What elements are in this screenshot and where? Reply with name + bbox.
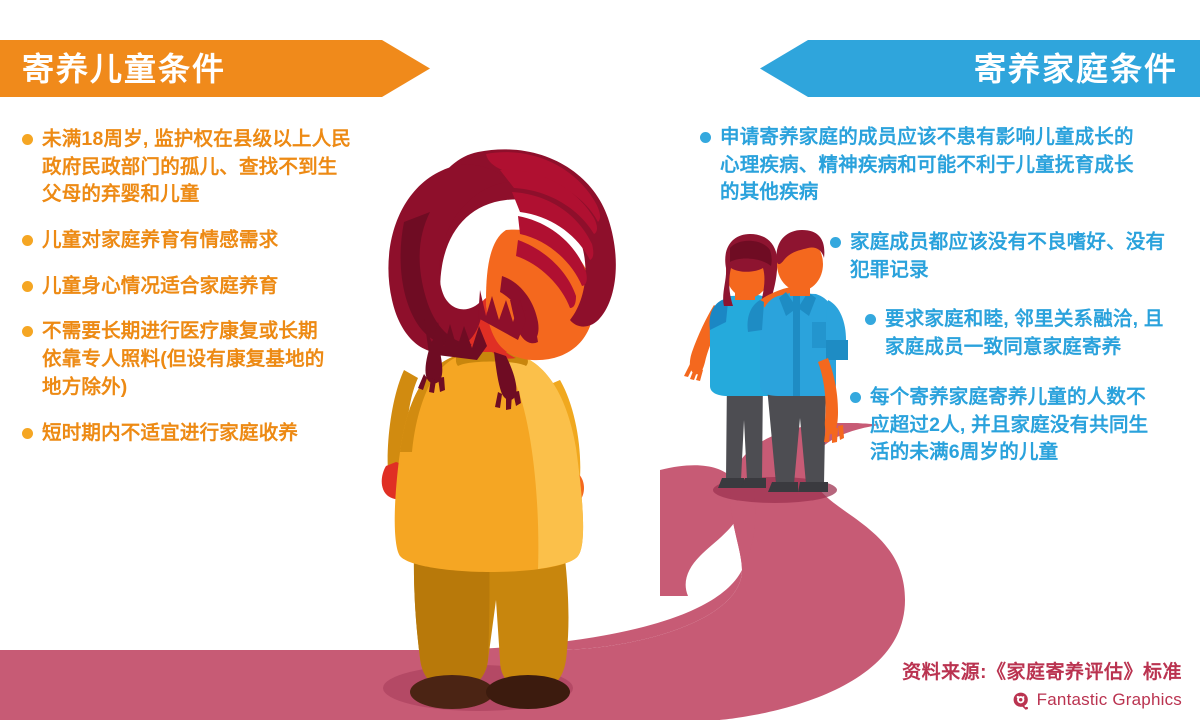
brand-name: Fantastic Graphics [1037,690,1182,710]
dot-bullet-icon [850,392,861,403]
foster-child-conditions-list: 未满18周岁, 监护权在县级以上人民 政府民政部门的孤儿、查找不到生 父母的弃婴… [22,126,422,465]
right-header-title: 寄养家庭条件 [974,53,1178,85]
footer: 资料来源:《家庭寄养评估》标准 Fantastic Graphics [902,657,1182,710]
infographic-canvas: 寄养儿童条件 寄养家庭条件 未满18周岁, 监护权在县级以上人民 政府民政部门的… [0,0,1200,720]
dot-bullet-icon [22,235,33,246]
list-item: 申请寄养家庭的成员应该不患有影响儿童成长的 心理疾病、精神疾病和可能不利于儿童抚… [700,124,1200,207]
list-item-text: 要求家庭和睦, 邻里关系融洽, 且 家庭成员一致同意家庭寄养 [885,306,1164,361]
list-item: 儿童对家庭养育有情感需求 [22,227,422,255]
list-item: 家庭成员都应该没有不良嗜好、没有 犯罪记录 [830,229,1200,284]
dot-bullet-icon [22,326,33,337]
dot-bullet-icon [22,134,33,145]
list-item-text: 每个寄养家庭寄养儿童的人数不 应超过2人, 并且家庭没有共同生 活的未满6周岁的… [870,384,1148,467]
brand-line: Fantastic Graphics [902,690,1182,710]
list-item-text: 儿童身心情况适合家庭养育 [42,273,278,301]
left-header-title: 寄养儿童条件 [22,53,226,85]
list-item: 不需要长期进行医疗康复或长期 依靠专人照料(但设有康复基地的 地方除外) [22,318,422,401]
list-item-text: 未满18周岁, 监护权在县级以上人民 政府民政部门的孤儿、查找不到生 父母的弃婴… [42,126,351,209]
right-header-banner: 寄养家庭条件 [760,40,1200,97]
left-header-banner: 寄养儿童条件 [0,40,430,97]
fantastic-graphics-logo-icon [1012,691,1031,710]
list-item-text: 儿童对家庭养育有情感需求 [42,227,278,255]
dot-bullet-icon [700,132,711,143]
list-item-text: 不需要长期进行医疗康复或长期 依靠专人照料(但设有康复基地的 地方除外) [42,318,325,401]
dot-bullet-icon [865,314,876,325]
dot-bullet-icon [830,237,841,248]
list-item: 短时期内不适宜进行家庭收养 [22,420,422,448]
dot-bullet-icon [22,281,33,292]
list-item: 每个寄养家庭寄养儿童的人数不 应超过2人, 并且家庭没有共同生 活的未满6周岁的… [850,384,1200,467]
foster-family-conditions-list: 申请寄养家庭的成员应该不患有影响儿童成长的 心理疾病、精神疾病和可能不利于儿童抚… [700,124,1200,485]
list-item-text: 家庭成员都应该没有不良嗜好、没有 犯罪记录 [850,229,1165,284]
source-citation: 资料来源:《家庭寄养评估》标准 [902,657,1182,684]
list-item: 儿童身心情况适合家庭养育 [22,273,422,301]
list-item: 要求家庭和睦, 邻里关系融洽, 且 家庭成员一致同意家庭寄养 [865,306,1200,361]
list-item: 未满18周岁, 监护权在县级以上人民 政府民政部门的孤儿、查找不到生 父母的弃婴… [22,126,422,209]
list-item-text: 申请寄养家庭的成员应该不患有影响儿童成长的 心理疾病、精神疾病和可能不利于儿童抚… [720,124,1134,207]
dot-bullet-icon [22,428,33,439]
list-item-text: 短时期内不适宜进行家庭收养 [42,420,298,448]
